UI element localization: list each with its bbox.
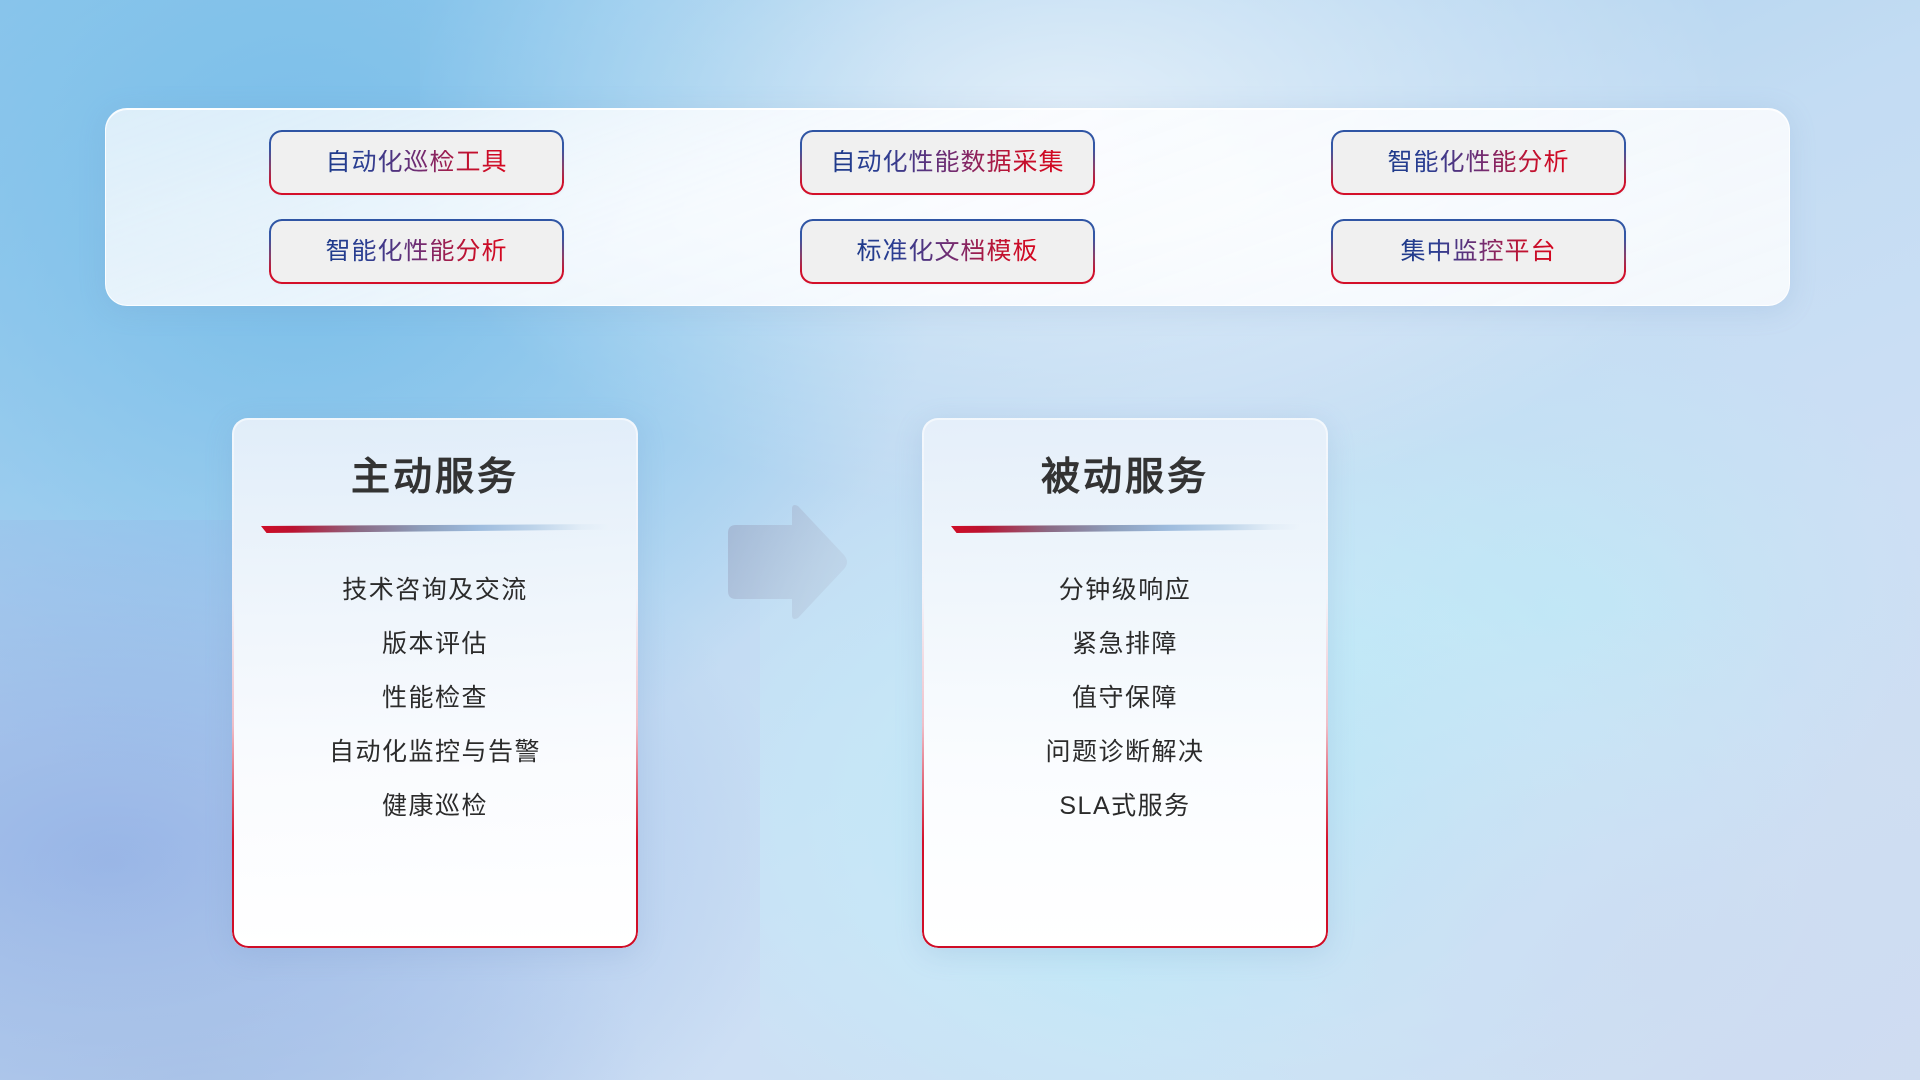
service-card-divider (951, 524, 1299, 533)
service-list-item: 自动化监控与告警 (248, 725, 622, 779)
capability-pill-4[interactable]: 标准化文档模板 (802, 221, 1094, 283)
service-list-item: 分钟级响应 (938, 563, 1312, 617)
capability-pill-label: 自动化性能数据采集 (830, 150, 1064, 175)
service-card-passive: 被动服务 分钟级响应 紧急排障 值守保障 问题诊断解决 SLA式服务 (922, 418, 1328, 948)
service-list-item: 健康巡检 (248, 779, 622, 833)
capability-pill-label: 智能化性能分析 (1387, 150, 1569, 175)
arrow-right-icon (714, 503, 850, 621)
service-card-item-list: 技术咨询及交流 版本评估 性能检查 自动化监控与告警 健康巡检 (232, 563, 638, 833)
capability-pill-label: 智能化性能分析 (325, 239, 507, 264)
service-card-divider (261, 524, 609, 533)
service-list-item: 性能检查 (248, 671, 622, 725)
service-list-item: SLA式服务 (938, 779, 1312, 833)
capability-pill-2[interactable]: 智能化性能分析 (1333, 132, 1625, 194)
service-card-active: 主动服务 技术咨询及交流 版本评估 性能检查 自动化监控与告警 健康巡检 (232, 418, 638, 948)
service-card-title: 被动服务 (922, 446, 1328, 502)
capability-pill-label: 集中监控平台 (1400, 239, 1556, 264)
service-list-item: 紧急排障 (938, 617, 1312, 671)
capability-pill-label: 标准化文档模板 (856, 239, 1038, 264)
capability-pill-0[interactable]: 自动化巡检工具 (271, 132, 563, 194)
service-card-title: 主动服务 (232, 446, 638, 502)
capability-pill-1[interactable]: 自动化性能数据采集 (802, 132, 1094, 194)
capability-pill-label: 自动化巡检工具 (325, 150, 507, 175)
service-list-item: 版本评估 (248, 617, 622, 671)
service-card-item-list: 分钟级响应 紧急排障 值守保障 问题诊断解决 SLA式服务 (922, 563, 1328, 833)
service-list-item: 问题诊断解决 (938, 725, 1312, 779)
capability-pill-5[interactable]: 集中监控平台 (1333, 221, 1625, 283)
capability-panel: 自动化巡检工具 自动化性能数据采集 智能化性能分析 智能化性能分析 标准化文档模… (105, 108, 1790, 306)
service-list-item: 值守保障 (938, 671, 1312, 725)
capability-pill-3[interactable]: 智能化性能分析 (271, 221, 563, 283)
service-list-item: 技术咨询及交流 (248, 563, 622, 617)
